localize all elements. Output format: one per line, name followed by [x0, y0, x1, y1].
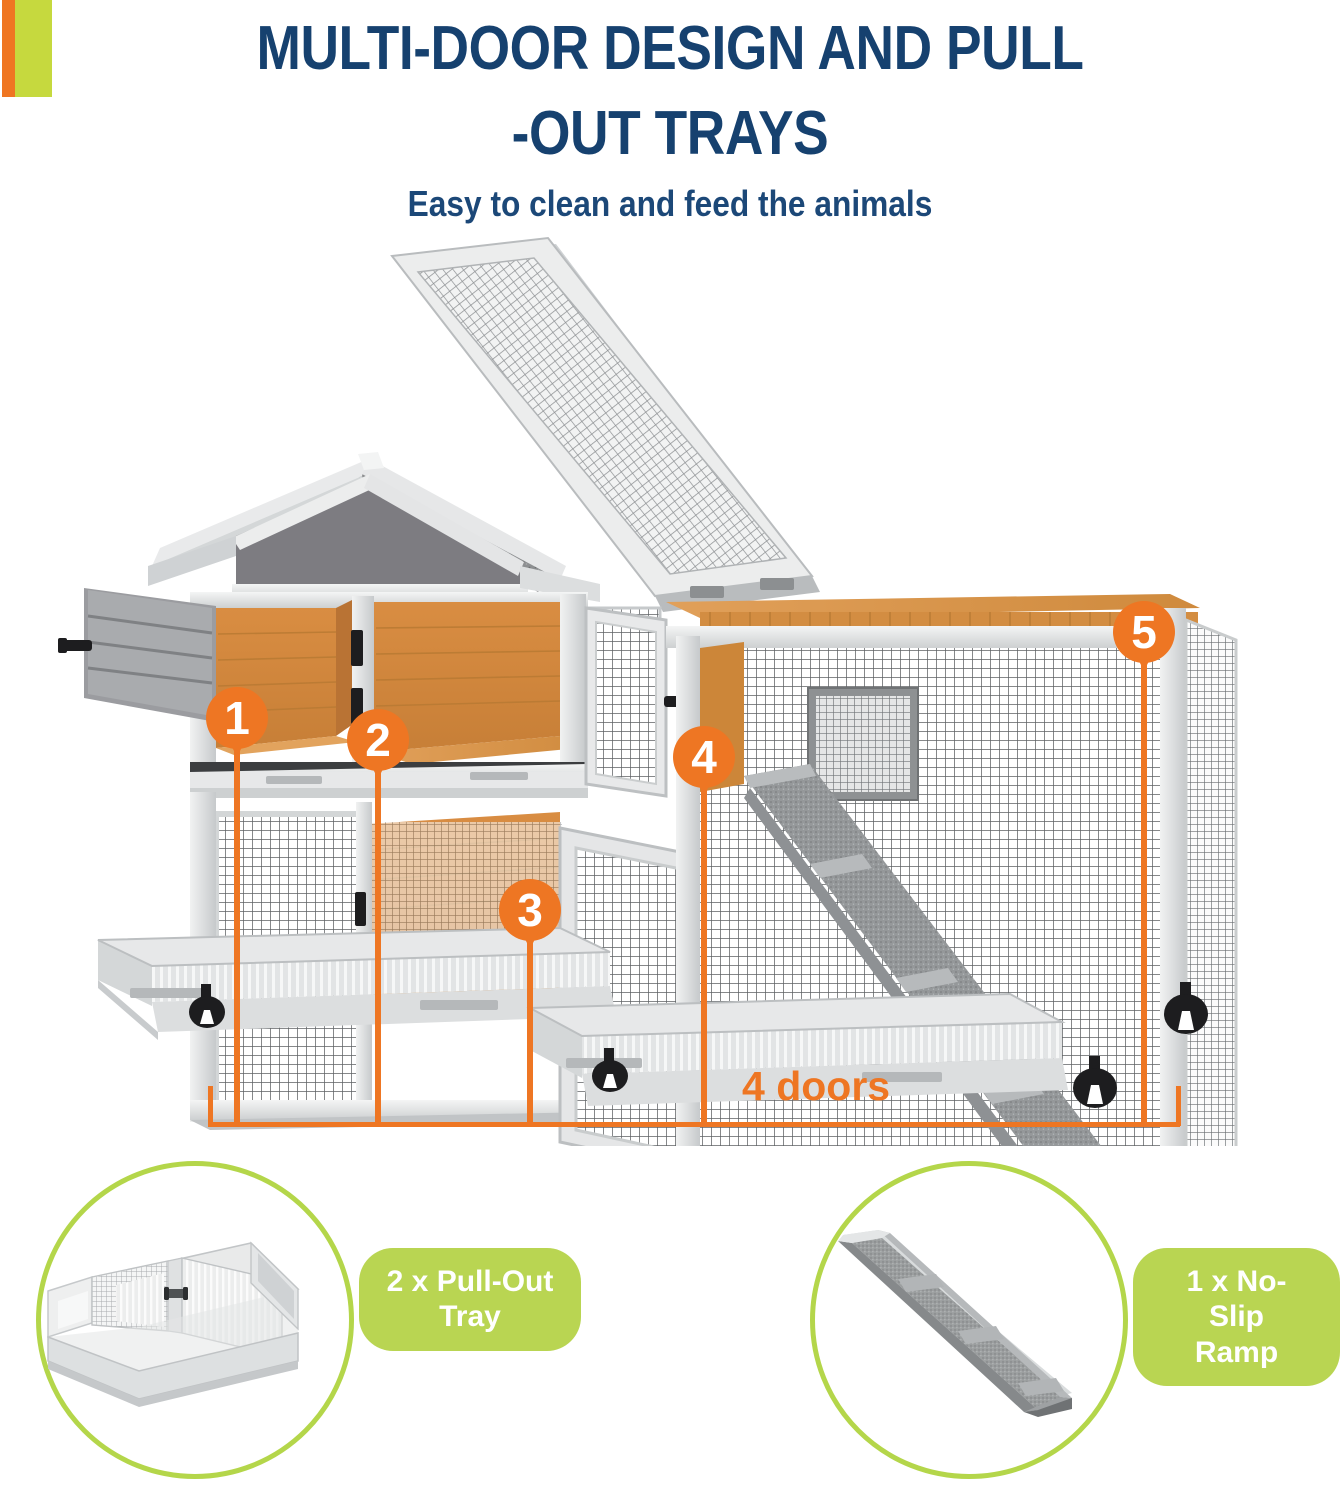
doors-count-label: 4 doors [742, 1063, 890, 1110]
gable-roof [148, 452, 600, 602]
tray-handle-left [130, 988, 204, 998]
callout-4-number: 4 [673, 726, 735, 788]
callout-3-stem [527, 937, 533, 1125]
page-title-line-1: MULTI-DOOR DESIGN AND PULL [94, 18, 1246, 80]
page-subtitle: Easy to clean and feed the animals [80, 183, 1259, 225]
product-illustration [0, 236, 1340, 1146]
no-slip-ramp-icon [810, 1161, 1128, 1479]
baseline-tick-left [208, 1086, 213, 1126]
hinge-icon [355, 892, 366, 926]
callout-4-stem [701, 784, 707, 1125]
detail-label-no-slip-ramp: 1 x No-Slip Ramp [1133, 1248, 1340, 1386]
header: MULTI-DOOR DESIGN AND PULL -OUT TRAYS Ea… [0, 0, 1340, 250]
callout-3-number: 3 [499, 879, 561, 941]
hutch-vector-art [0, 236, 1340, 1146]
baseline-tick-right [1176, 1086, 1181, 1126]
callout-baseline [208, 1122, 1180, 1127]
callout-5-number: 5 [1113, 601, 1175, 663]
detail-label-pull-out-tray: 2 x Pull-Out Tray [359, 1248, 581, 1351]
pull-out-tray-icon [36, 1161, 354, 1479]
page-title-line-2: -OUT TRAYS [94, 103, 1246, 165]
callout-2-number: 2 [347, 709, 409, 771]
side-door-open[interactable] [58, 588, 216, 722]
callout-2-stem [375, 767, 381, 1125]
tray-handle-left-2 [420, 1000, 498, 1010]
callout-1-stem [234, 745, 240, 1125]
callout-5-stem [1141, 659, 1147, 1125]
accent-bar-orange [2, 0, 15, 97]
callout-1-number: 1 [206, 687, 268, 749]
hinge-icon [351, 630, 363, 666]
accent-bar-green [15, 0, 52, 97]
mid-tray-slot [190, 762, 616, 798]
